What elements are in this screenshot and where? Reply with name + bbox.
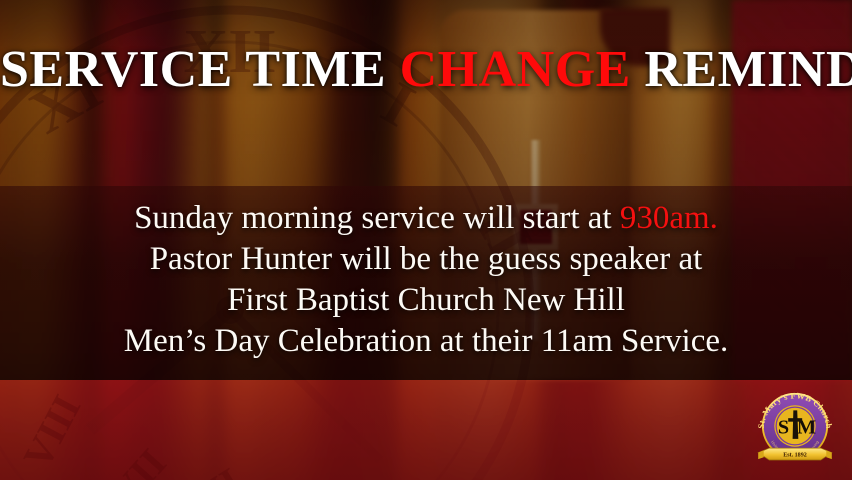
logo-banner: Est. 1892 bbox=[758, 448, 832, 460]
bottom-numeral-0: VIII bbox=[13, 387, 90, 476]
announcement-line-2: Pastor Hunter will be the guess speaker … bbox=[0, 239, 852, 280]
logo-banner-text: Est. 1892 bbox=[783, 453, 807, 459]
church-logo-badge: St. Mary's FWB Church Uniting · Teaching… bbox=[748, 380, 842, 472]
announcement-line-4: Men’s Day Celebration at their 11am Serv… bbox=[0, 321, 852, 362]
announcement-line-1-text: Sunday morning service will start at bbox=[134, 200, 620, 236]
announcement-service-time: 930am. bbox=[620, 200, 718, 236]
bottom-roman-numerals: VIII VII VI IV bbox=[0, 380, 852, 480]
flyer-canvas: XII XI X IX I II VIII VII VI IV SERVICE … bbox=[0, 0, 852, 480]
title-part-two: REMINDER bbox=[631, 41, 852, 98]
announcement-body: Sunday morning service will start at 930… bbox=[0, 198, 852, 362]
announcement-line-1: Sunday morning service will start at 930… bbox=[0, 198, 852, 239]
bottom-numeral-1: VII bbox=[100, 439, 175, 480]
announcement-line-3: First Baptist Church New Hill bbox=[0, 280, 852, 321]
page-title: SERVICE TIME CHANGE REMINDER bbox=[0, 44, 852, 96]
title-part-one: SERVICE TIME bbox=[0, 41, 400, 98]
bottom-numeral-2: VI bbox=[187, 458, 250, 480]
title-highlight-change: CHANGE bbox=[400, 41, 631, 98]
bottom-numeral-3: IV bbox=[370, 470, 419, 480]
logo-monogram-s: S bbox=[778, 416, 789, 438]
band-bottom-overlay: VIII VII VI IV bbox=[0, 380, 852, 480]
